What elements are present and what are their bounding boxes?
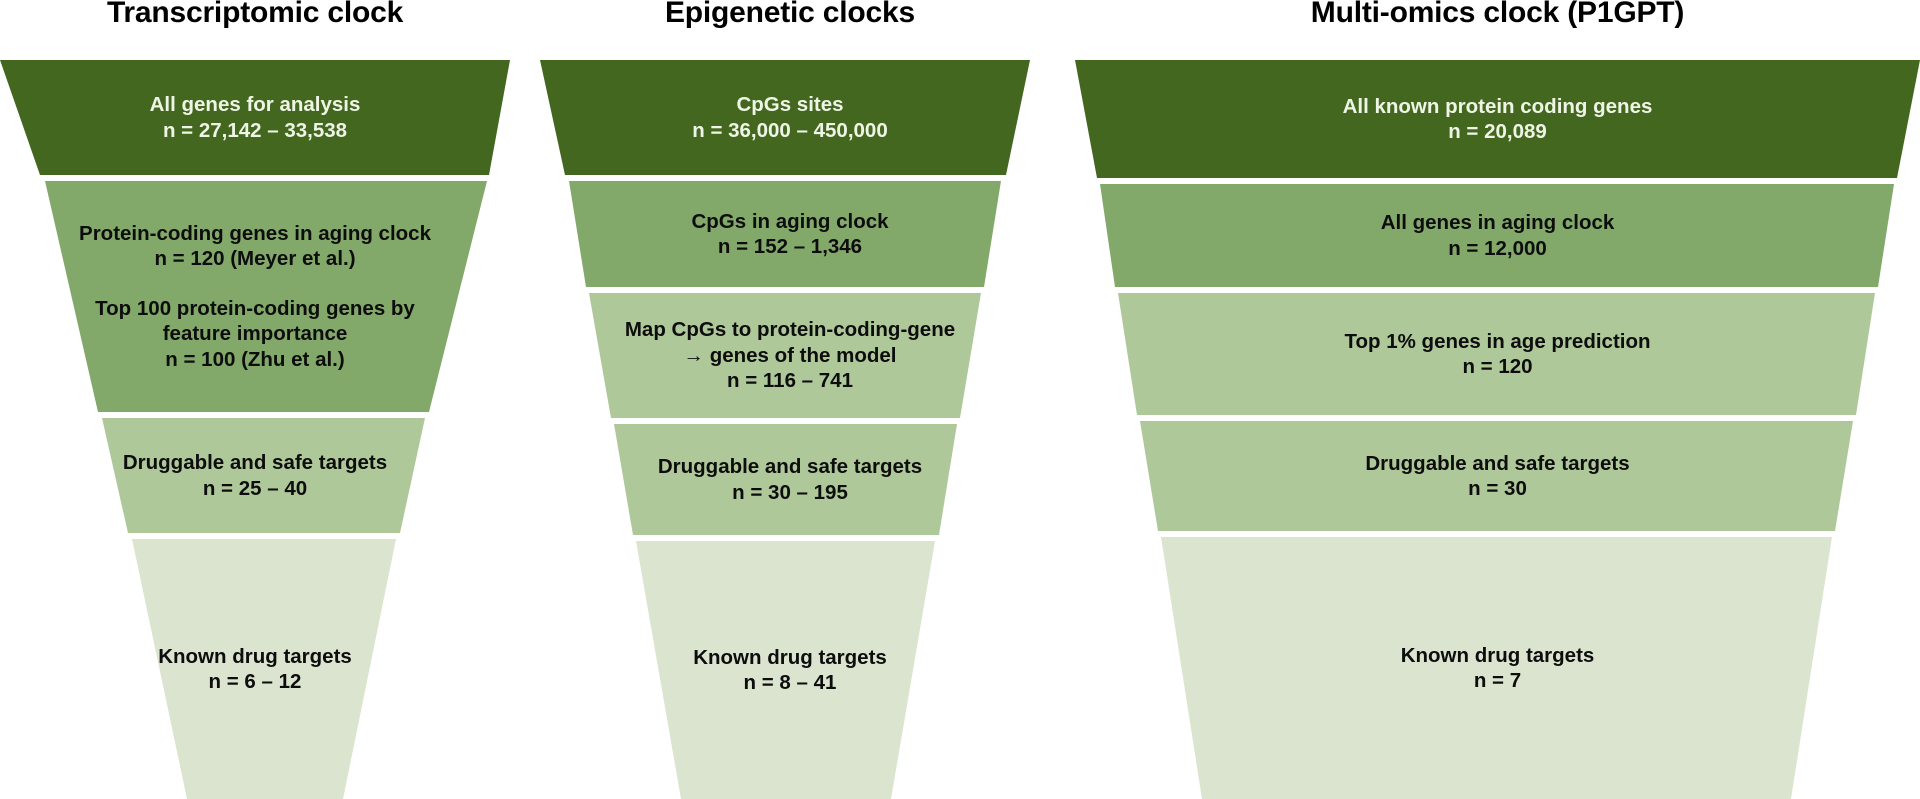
funnel-tier: Protein-coding genes in aging clockn = 1… xyxy=(0,181,510,412)
funnel-tier-text-group: Druggable and safe targetsn = 30 – 195 xyxy=(546,454,1034,505)
funnel-tier-line: n = 25 – 40 xyxy=(6,476,504,502)
funnel-tier-line: CpGs in aging clock xyxy=(546,209,1034,235)
funnel-tier: Map CpGs to protein-coding-gene→ genes o… xyxy=(540,293,1040,418)
funnel-tier-line: Top 1% genes in age prediction xyxy=(1081,329,1914,355)
funnel-tier: Known drug targetsn = 7 xyxy=(1075,537,1920,799)
funnel-tier-line: n = 36,000 – 450,000 xyxy=(546,118,1034,144)
funnel-tier-text-group: Known drug targetsn = 7 xyxy=(1081,643,1914,694)
funnel-column-2: Epigenetic clocksCpGs sitesn = 36,000 – … xyxy=(540,0,1040,799)
funnel-tier-content: All genes in aging clockn = 12,000 xyxy=(1075,210,1920,261)
funnel-tier-content: Protein-coding genes in aging clockn = 1… xyxy=(0,221,510,373)
funnel-tier-content: CpGs sitesn = 36,000 – 450,000 xyxy=(540,92,1040,143)
funnel: All genes for analysisn = 27,142 – 33,53… xyxy=(0,0,510,799)
funnel-tier-line: Known drug targets xyxy=(6,644,504,670)
funnel-tier-content: Known drug targetsn = 8 – 41 xyxy=(540,645,1040,696)
funnel-tier: Druggable and safe targetsn = 30 xyxy=(1075,421,1920,531)
funnel-tier-text-group: Druggable and safe targetsn = 25 – 40 xyxy=(6,450,504,501)
funnel-tier-text-group: Map CpGs to protein-coding-gene→ genes o… xyxy=(546,317,1034,394)
funnel-tier-line: Druggable and safe targets xyxy=(6,450,504,476)
funnel-tier-line: n = 30 – 195 xyxy=(546,480,1034,506)
funnel-tier-line: Known drug targets xyxy=(1081,643,1914,669)
funnel-tier-content: Druggable and safe targetsn = 30 – 195 xyxy=(540,454,1040,505)
funnel-tier-line: CpGs sites xyxy=(546,92,1034,118)
funnel-tier-line: n = 152 – 1,346 xyxy=(546,234,1034,260)
funnel-figure: Transcriptomic clockAll genes for analys… xyxy=(0,0,1920,799)
funnel-tier-content: Druggable and safe targetsn = 25 – 40 xyxy=(0,450,510,501)
funnel: All known protein coding genesn = 20,089… xyxy=(1075,0,1920,799)
funnel-tier-line: Druggable and safe targets xyxy=(1081,451,1914,477)
funnel-tier-content: All known protein coding genesn = 20,089 xyxy=(1075,94,1920,145)
funnel-tier-text-group: All genes for analysisn = 27,142 – 33,53… xyxy=(6,92,504,143)
funnel-tier-line: Map CpGs to protein-coding-gene xyxy=(546,317,1034,343)
funnel-tier-text-group: Known drug targetsn = 6 – 12 xyxy=(6,644,504,695)
funnel-tier-content: Map CpGs to protein-coding-gene→ genes o… xyxy=(540,317,1040,394)
funnel: CpGs sitesn = 36,000 – 450,000CpGs in ag… xyxy=(540,0,1040,799)
funnel-tier-line: Top 100 protein-coding genes by xyxy=(6,296,504,322)
funnel-tier-line: n = 30 xyxy=(1081,476,1914,502)
funnel-tier-text-group: CpGs in aging clockn = 152 – 1,346 xyxy=(546,209,1034,260)
funnel-tier: Known drug targetsn = 8 – 41 xyxy=(540,541,1040,799)
funnel-tier: All genes for analysisn = 27,142 – 33,53… xyxy=(0,60,510,175)
funnel-tier-content: Known drug targetsn = 6 – 12 xyxy=(0,644,510,695)
funnel-tier: All known protein coding genesn = 20,089 xyxy=(1075,60,1920,178)
funnel-tier-text-group: Druggable and safe targetsn = 30 xyxy=(1081,451,1914,502)
funnel-tier-line: n = 7 xyxy=(1081,668,1914,694)
funnel-tier-text-group: Top 100 protein-coding genes byfeature i… xyxy=(6,296,504,373)
funnel-tier-line: n = 120 xyxy=(1081,354,1914,380)
funnel-tier-line: All genes in aging clock xyxy=(1081,210,1914,236)
funnel-tier: CpGs in aging clockn = 152 – 1,346 xyxy=(540,181,1040,287)
funnel-tier: Druggable and safe targetsn = 30 – 195 xyxy=(540,424,1040,535)
funnel-tier-text-group: All genes in aging clockn = 12,000 xyxy=(1081,210,1914,261)
funnel-tier-text-group: All known protein coding genesn = 20,089 xyxy=(1081,94,1914,145)
funnel-tier: All genes in aging clockn = 12,000 xyxy=(1075,184,1920,287)
funnel-tier-text-group: Protein-coding genes in aging clockn = 1… xyxy=(6,221,504,272)
funnel-tier: CpGs sitesn = 36,000 – 450,000 xyxy=(540,60,1040,175)
funnel-tier: Known drug targetsn = 6 – 12 xyxy=(0,539,510,799)
funnel-tier-line: Protein-coding genes in aging clock xyxy=(6,221,504,247)
funnel-tier-line: n = 8 – 41 xyxy=(546,670,1034,696)
funnel-tier-line: n = 116 – 741 xyxy=(546,368,1034,394)
funnel-tier-line: n = 100 (Zhu et al.) xyxy=(6,347,504,373)
funnel-tier: Druggable and safe targetsn = 25 – 40 xyxy=(0,418,510,533)
funnel-tier-line: n = 12,000 xyxy=(1081,236,1914,262)
funnel-column-3: Multi-omics clock (P1GPT)All known prote… xyxy=(1075,0,1920,799)
funnel-tier-content: Top 1% genes in age predictionn = 120 xyxy=(1075,329,1920,380)
funnel-tier-content: Druggable and safe targetsn = 30 xyxy=(1075,451,1920,502)
funnel-tier: Top 1% genes in age predictionn = 120 xyxy=(1075,293,1920,415)
funnel-tier-content: Known drug targetsn = 7 xyxy=(1075,643,1920,694)
funnel-tier-line: → genes of the model xyxy=(546,343,1034,369)
funnel-tier-line: All known protein coding genes xyxy=(1081,94,1914,120)
funnel-tier-line: n = 6 – 12 xyxy=(6,669,504,695)
funnel-tier-content: All genes for analysisn = 27,142 – 33,53… xyxy=(0,92,510,143)
funnel-tier-line: All genes for analysis xyxy=(6,92,504,118)
funnel-tier-text-group: Known drug targetsn = 8 – 41 xyxy=(546,645,1034,696)
funnel-tier-text-group: Top 1% genes in age predictionn = 120 xyxy=(1081,329,1914,380)
funnel-tier-content: CpGs in aging clockn = 152 – 1,346 xyxy=(540,209,1040,260)
funnel-tier-line: Druggable and safe targets xyxy=(546,454,1034,480)
funnel-column-1: Transcriptomic clockAll genes for analys… xyxy=(0,0,510,799)
funnel-tier-line: n = 120 (Meyer et al.) xyxy=(6,246,504,272)
funnel-tier-line: n = 27,142 – 33,538 xyxy=(6,118,504,144)
funnel-tier-line: feature importance xyxy=(6,321,504,347)
funnel-tier-text-group: CpGs sitesn = 36,000 – 450,000 xyxy=(546,92,1034,143)
funnel-tier-line: n = 20,089 xyxy=(1081,119,1914,145)
funnel-tier-line: Known drug targets xyxy=(546,645,1034,671)
